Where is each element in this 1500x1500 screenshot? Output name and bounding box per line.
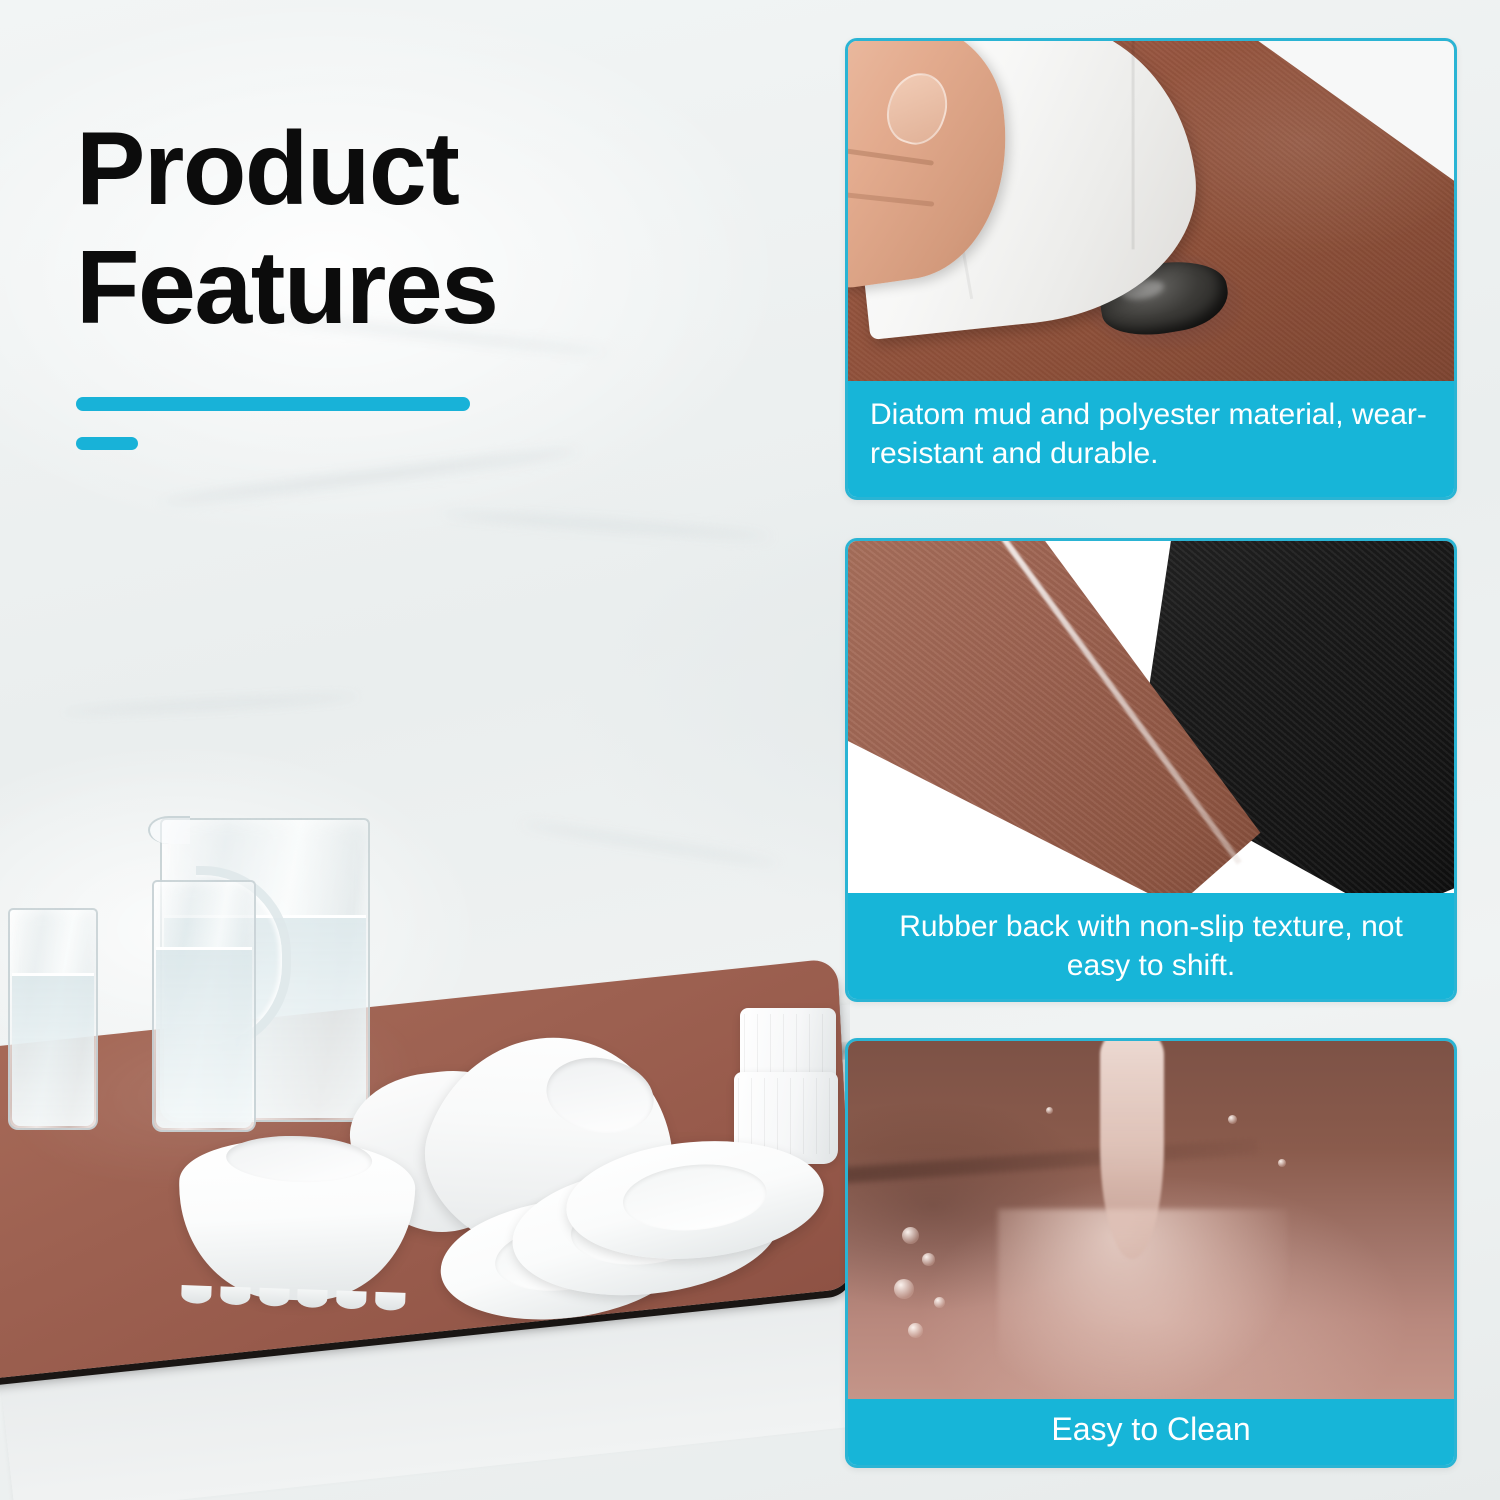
water-glass — [152, 880, 256, 1132]
glass-water — [156, 947, 252, 1128]
water-bead — [894, 1279, 914, 1299]
feature-panel-material: Diatom mud and polyester material, wear-… — [845, 38, 1457, 500]
knuckle-crease — [848, 189, 934, 207]
cloth-fold — [1132, 41, 1135, 249]
feature-panel-easy-clean: Easy to Clean — [845, 1038, 1457, 1468]
plate-inner-ring — [620, 1159, 770, 1236]
material-photo — [848, 41, 1454, 381]
water-bead — [1046, 1107, 1053, 1114]
marble-vein — [60, 692, 360, 717]
page-title: Product Features — [76, 110, 776, 450]
water-bead — [922, 1253, 935, 1266]
pitcher-spout — [148, 816, 190, 844]
scallop — [297, 1289, 328, 1308]
marble-vein — [440, 509, 770, 542]
scallop — [336, 1290, 367, 1309]
water-bead — [908, 1323, 923, 1338]
feature-panel-rubber-back: Rubber back with non-slip texture, not e… — [845, 538, 1457, 1002]
knuckle-crease — [848, 143, 934, 166]
marble-vein — [161, 444, 579, 508]
water-bead — [1278, 1159, 1286, 1167]
water-bead — [1228, 1115, 1237, 1124]
easy-clean-photo — [848, 1041, 1454, 1399]
title-line-features: Features — [76, 229, 776, 348]
glass-water — [12, 973, 94, 1126]
scallop — [259, 1288, 290, 1307]
product-features-poster: Product Features — [0, 0, 1500, 1500]
rubber-back-photo — [848, 541, 1454, 893]
title-line-product: Product — [76, 110, 776, 229]
panel-caption-rubber-back: Rubber back with non-slip texture, not e… — [848, 893, 1454, 999]
feature-panel-column: Diatom mud and polyester material, wear-… — [845, 38, 1457, 1468]
water-bead — [902, 1227, 919, 1244]
panel-caption-easy-clean: Easy to Clean — [848, 1399, 1454, 1465]
water-glass — [8, 908, 98, 1130]
accent-bar-short — [76, 437, 138, 450]
panel-caption-material: Diatom mud and polyester material, wear-… — [848, 381, 1454, 497]
accent-bar-long — [76, 397, 470, 411]
hero-lifestyle-photo — [0, 790, 850, 1500]
cup-fluting — [738, 1078, 834, 1154]
thumbnail — [879, 65, 956, 151]
water-bead — [934, 1297, 945, 1308]
scallop — [181, 1285, 212, 1304]
scallop — [375, 1292, 406, 1311]
scallop — [220, 1286, 251, 1305]
